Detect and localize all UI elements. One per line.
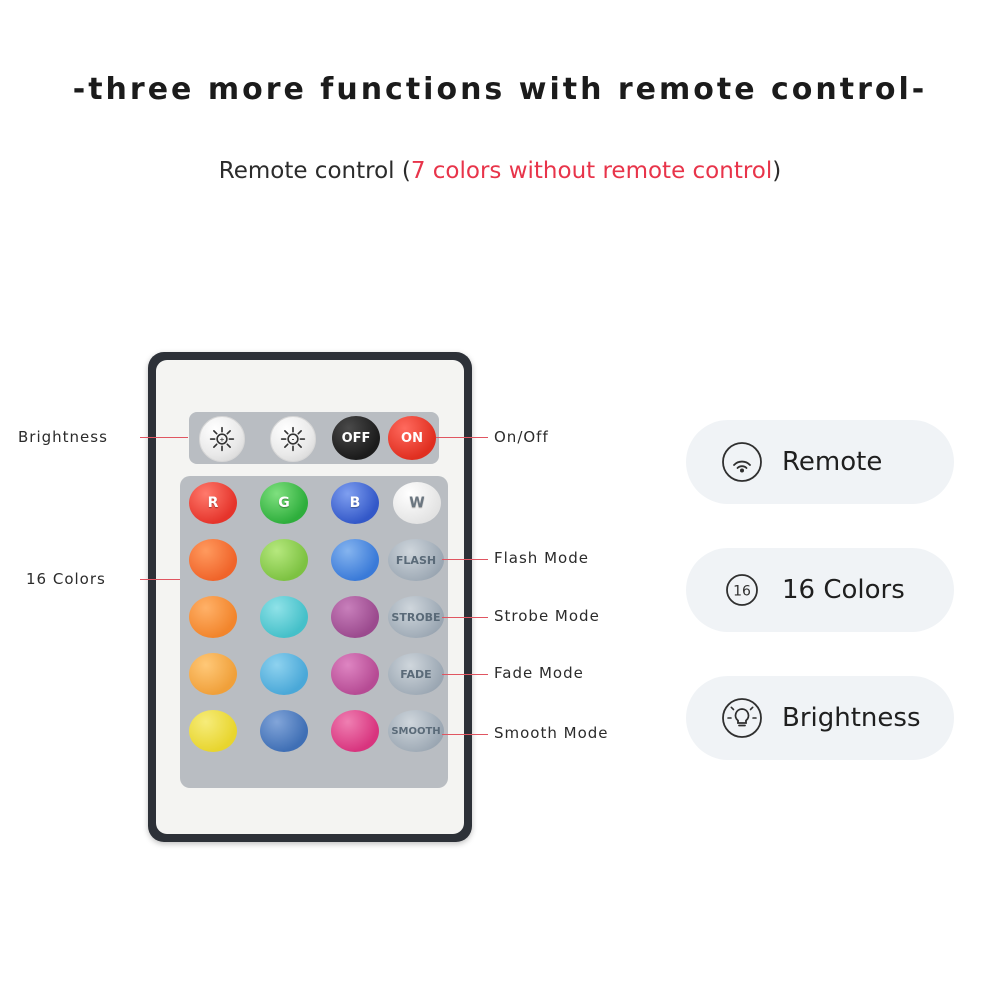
color-button[interactable] [260, 653, 308, 695]
color-button[interactable] [189, 710, 237, 752]
color-button[interactable] [189, 596, 237, 638]
color-button-label: R [208, 495, 219, 511]
color-button[interactable] [331, 710, 379, 752]
remote-signal-icon [720, 440, 764, 484]
subtitle-accent: 7 colors without remote control [411, 158, 772, 184]
color-button[interactable] [189, 653, 237, 695]
remote-control: + - OFF ON R G B [148, 352, 472, 842]
leader-strobe-mode [442, 617, 488, 618]
color-button[interactable] [260, 596, 308, 638]
feature-card-remote: Remote [686, 420, 954, 504]
brightness-up-button[interactable]: + [199, 416, 245, 462]
color-button[interactable] [260, 539, 308, 581]
callout-strobe-mode: Strobe Mode [494, 607, 600, 625]
subtitle-prefix: Remote control ( [219, 158, 411, 184]
brightness-up-icon: + [209, 426, 235, 452]
feature-card-16-colors: 16 16 Colors [686, 548, 954, 632]
callout-brightness: Brightness [18, 428, 108, 446]
leader-brightness [140, 437, 188, 438]
color-button[interactable] [260, 710, 308, 752]
feature-card-label: Brightness [782, 703, 921, 733]
color-button-label: G [278, 495, 290, 511]
callout-fade-mode: Fade Mode [494, 664, 584, 682]
fade-mode-label: FADE [400, 668, 431, 681]
feature-card-brightness: Brightness [686, 676, 954, 760]
leader-16-colors [140, 579, 180, 580]
color-button[interactable] [331, 539, 379, 581]
color-button[interactable] [331, 596, 379, 638]
strobe-mode-label: STROBE [391, 611, 440, 624]
svg-text:-: - [292, 435, 295, 443]
leader-on-off [436, 437, 488, 438]
fade-mode-button[interactable]: FADE [388, 653, 444, 695]
subtitle-suffix: ) [772, 158, 781, 184]
leader-flash-mode [442, 559, 488, 560]
svg-text:16: 16 [733, 584, 751, 600]
on-button[interactable]: ON [388, 416, 436, 460]
strobe-mode-button[interactable]: STROBE [388, 596, 444, 638]
off-button-label: OFF [342, 431, 371, 446]
flash-mode-button[interactable]: FLASH [388, 539, 444, 581]
callout-on-off: On/Off [494, 428, 549, 446]
color-button-b[interactable]: B [331, 482, 379, 524]
smooth-mode-button[interactable]: SMOOTH [388, 710, 444, 752]
leader-smooth-mode [442, 734, 488, 735]
svg-text:+: + [219, 435, 224, 443]
off-button[interactable]: OFF [332, 416, 380, 460]
feature-card-label: Remote [782, 447, 882, 477]
sixteen-icon: 16 [720, 568, 764, 612]
bulb-icon [720, 696, 764, 740]
page-title: -three more functions with remote contro… [0, 72, 1000, 107]
color-button-label: B [350, 495, 361, 511]
callout-16-colors: 16 Colors [26, 570, 106, 588]
color-button[interactable] [189, 539, 237, 581]
on-button-label: ON [401, 431, 423, 446]
page-subtitle: Remote control (7 colors without remote … [0, 158, 1000, 184]
color-button[interactable] [331, 653, 379, 695]
brightness-down-button[interactable]: - [270, 416, 316, 462]
color-button-label: W [409, 495, 424, 511]
callout-smooth-mode: Smooth Mode [494, 724, 609, 742]
color-button-r[interactable]: R [189, 482, 237, 524]
smooth-mode-label: SMOOTH [391, 726, 440, 737]
brightness-down-icon: - [280, 426, 306, 452]
feature-card-label: 16 Colors [782, 575, 905, 605]
color-button-w[interactable]: W [393, 482, 441, 524]
leader-fade-mode [442, 674, 488, 675]
color-button-g[interactable]: G [260, 482, 308, 524]
remote-face: + - OFF ON R G B [156, 360, 464, 834]
flash-mode-label: FLASH [396, 554, 436, 567]
callout-flash-mode: Flash Mode [494, 549, 589, 567]
